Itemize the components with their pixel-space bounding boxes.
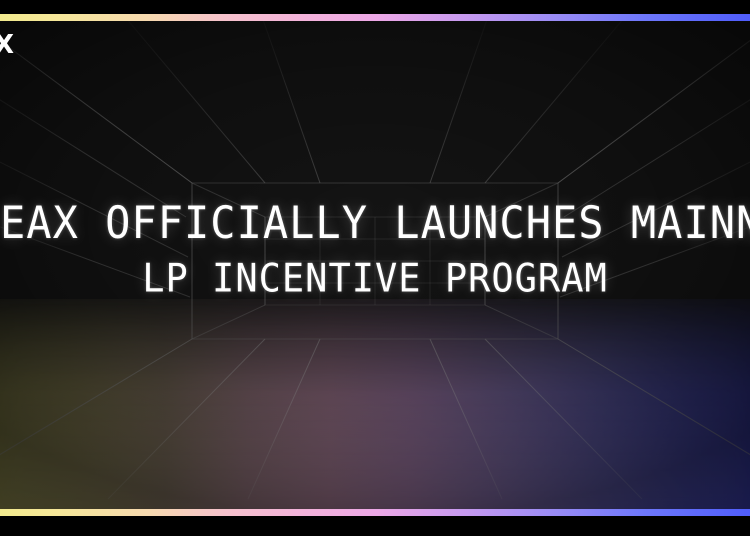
x-logo-icon[interactable]: X xyxy=(0,32,14,58)
headline-line-1: EAX OFFICIALLY LAUNCHES MAINNET xyxy=(0,194,750,251)
letterbox-top xyxy=(0,0,750,14)
ceiling-depth-lines xyxy=(0,21,750,183)
gradient-rule-bottom xyxy=(0,509,750,516)
hero-banner: X EAX OFFICIALLY LAUNCHES MAINNET LP INC… xyxy=(0,0,750,536)
letterbox-bottom xyxy=(0,516,750,536)
headline-block: EAX OFFICIALLY LAUNCHES MAINNET LP INCEN… xyxy=(0,196,750,304)
floor-depth-lines xyxy=(0,339,750,509)
headline-line-2: LP INCENTIVE PROGRAM xyxy=(0,253,750,306)
gradient-rule-top xyxy=(0,14,750,21)
